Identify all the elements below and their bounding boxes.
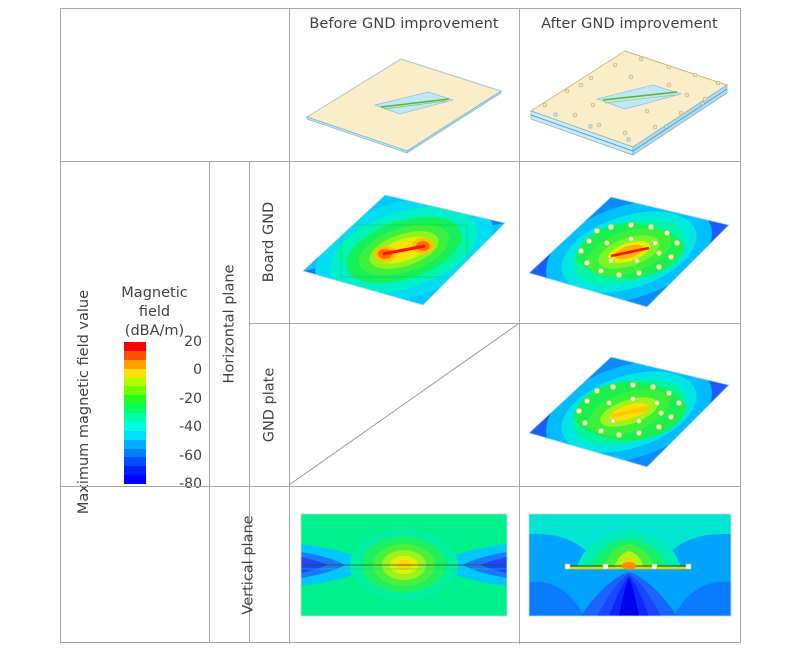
pcb-board-before xyxy=(289,39,519,161)
field-map-vertical-after-graphic xyxy=(519,486,740,643)
field-map-horizontal-board-gnd-before-graphic xyxy=(289,161,519,323)
row-label-board-gnd-text: Board GND xyxy=(261,202,277,282)
row-label-vertical-plane: Vertical plane xyxy=(209,486,289,643)
row-label-horizontal-plane: Horizontal plane xyxy=(209,161,249,486)
pcb-board-after xyxy=(519,39,740,161)
pcb-board-before-graphic xyxy=(289,39,519,161)
comparison-table: Before GND improvement After GND improve… xyxy=(60,8,741,643)
field-map-horizontal-board-gnd-before xyxy=(289,161,519,323)
diagonal-strike-icon xyxy=(289,323,519,486)
field-map-horizontal-board-gnd-after-graphic xyxy=(519,161,740,323)
pcb-board-after-graphic xyxy=(519,39,740,161)
column-header-after: After GND improvement xyxy=(519,9,740,39)
field-map-horizontal-board-gnd-after xyxy=(519,161,740,323)
column-header-before: Before GND improvement xyxy=(289,9,519,39)
field-map-vertical-after xyxy=(519,486,740,643)
row-label-gnd-plate: GND plate xyxy=(249,323,289,486)
row-label-horizontal-plane-text: Horizontal plane xyxy=(221,264,237,383)
field-map-vertical-before xyxy=(289,486,519,643)
row-label-board-gnd: Board GND xyxy=(249,161,289,323)
row-label-vertical-plane-text: Vertical plane xyxy=(241,515,257,614)
field-map-horizontal-gnd-plate-after-graphic xyxy=(519,323,740,486)
column-header-before-label: Before GND improvement xyxy=(309,16,498,32)
field-map-horizontal-gnd-plate-after xyxy=(519,323,740,486)
row-label-gnd-plate-text: GND plate xyxy=(261,367,277,442)
field-map-vertical-before-graphic xyxy=(289,486,519,643)
column-header-after-label: After GND improvement xyxy=(541,16,718,32)
not-applicable-cell xyxy=(289,323,519,486)
figure-root: Maximum magnetic field value Magnetic fi… xyxy=(0,0,801,651)
